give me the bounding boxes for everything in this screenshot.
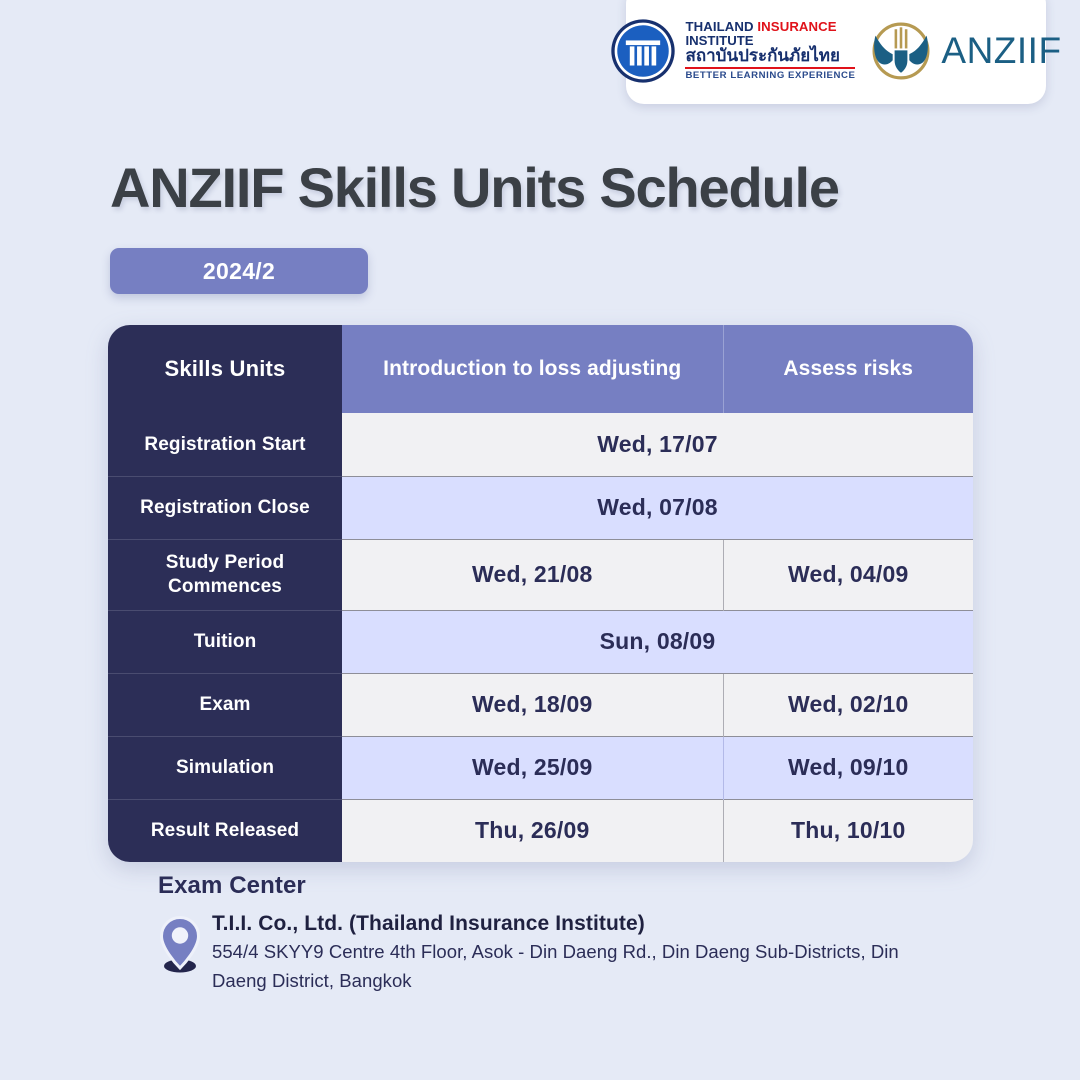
tii-tagline: BETTER LEARNING EXPERIENCE	[685, 71, 855, 81]
table-header-row: Skills Units Introduction to loss adjust…	[108, 325, 973, 413]
table-row: Study PeriodCommencesWed, 21/08Wed, 04/0…	[108, 539, 973, 610]
table-row: ExamWed, 18/09Wed, 02/10	[108, 673, 973, 736]
schedule-table-body: Registration StartWed, 17/07Registration…	[108, 413, 973, 862]
row-value: Wed, 21/08	[342, 539, 723, 610]
logo-card: THAILAND INSURANCE INSTITUTE สถาบันประกั…	[626, 0, 1046, 104]
tii-line-1: THAILAND INSURANCE	[685, 20, 855, 33]
tii-insurance-text: INSURANCE	[757, 19, 836, 34]
row-label: Registration Close	[108, 476, 342, 539]
exam-center-organisation: T.I.I. Co., Ltd. (Thailand Insurance Ins…	[212, 910, 952, 938]
schedule-table: Skills Units Introduction to loss adjust…	[108, 325, 973, 862]
exam-center-text: T.I.I. Co., Ltd. (Thailand Insurance Ins…	[212, 908, 952, 996]
term-badge: 2024/2	[110, 248, 368, 294]
row-value: Wed, 17/07	[342, 413, 973, 476]
row-label: Result Released	[108, 799, 342, 862]
row-value: Thu, 26/09	[342, 799, 723, 862]
map-pin-icon	[158, 916, 202, 974]
tii-wordmark: THAILAND INSURANCE INSTITUTE สถาบันประกั…	[685, 20, 855, 82]
table-row: Registration StartWed, 17/07	[108, 413, 973, 476]
row-value: Wed, 09/10	[723, 736, 973, 799]
row-value: Wed, 04/09	[723, 539, 973, 610]
table-row: Result ReleasedThu, 26/09Thu, 10/10	[108, 799, 973, 862]
anziif-wordmark: ANZIIF	[941, 30, 1061, 72]
tii-monogram-icon	[610, 18, 676, 84]
tii-divider	[685, 67, 855, 69]
exam-center-body: T.I.I. Co., Ltd. (Thailand Insurance Ins…	[158, 908, 958, 996]
column-header-intro-loss-adjusting: Introduction to loss adjusting	[342, 325, 723, 413]
row-label: Study PeriodCommences	[108, 539, 342, 610]
row-label: Registration Start	[108, 413, 342, 476]
column-header-skills-units: Skills Units	[108, 325, 342, 413]
schedule-table-head: Skills Units Introduction to loss adjust…	[108, 325, 973, 413]
page-title: ANZIIF Skills Units Schedule	[110, 155, 839, 220]
exam-center-section: Exam Center T.I.I. Co., Ltd. (Thailand I…	[158, 872, 958, 996]
row-value: Sun, 08/09	[342, 610, 973, 673]
tii-thailand-text: THAILAND	[685, 19, 757, 34]
poster-canvas: THAILAND INSURANCE INSTITUTE สถาบันประกั…	[0, 0, 1080, 1080]
row-value: Wed, 07/08	[342, 476, 973, 539]
table-row: Registration CloseWed, 07/08	[108, 476, 973, 539]
schedule-table-wrapper: Skills Units Introduction to loss adjust…	[108, 325, 973, 862]
row-label: Simulation	[108, 736, 342, 799]
table-row: SimulationWed, 25/09Wed, 09/10	[108, 736, 973, 799]
exam-center-title: Exam Center	[158, 872, 958, 900]
row-value: Thu, 10/10	[723, 799, 973, 862]
table-row: TuitionSun, 08/09	[108, 610, 973, 673]
row-label: Exam	[108, 673, 342, 736]
row-value: Wed, 25/09	[342, 736, 723, 799]
term-badge-label: 2024/2	[203, 258, 275, 285]
anziif-logo: ANZIIF	[869, 19, 1061, 83]
anziif-crest-icon	[869, 19, 933, 83]
row-value: Wed, 02/10	[723, 673, 973, 736]
column-header-assess-risks: Assess risks	[723, 325, 973, 413]
row-value: Wed, 18/09	[342, 673, 723, 736]
tii-logo: THAILAND INSURANCE INSTITUTE สถาบันประกั…	[610, 18, 855, 84]
exam-center-address: 554/4 SKYY9 Centre 4th Floor, Asok - Din…	[212, 938, 952, 995]
row-label: Tuition	[108, 610, 342, 673]
tii-thai-text: สถาบันประกันภัยไทย	[685, 48, 855, 65]
